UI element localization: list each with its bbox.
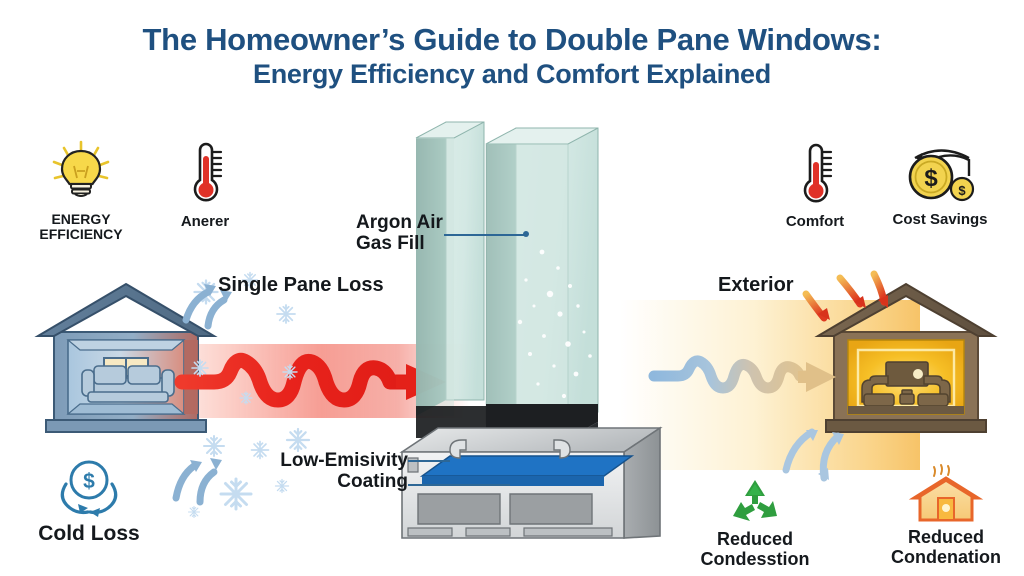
title-line-2: Energy Efficiency and Comfort Explained [0, 59, 1024, 91]
glass-pane-inner [486, 128, 598, 424]
reduced-condesstion-line-1: Reduced [717, 529, 793, 549]
argon-leader-line [444, 234, 526, 236]
coin-dollar-icon: $ $ [897, 146, 983, 208]
argon-line-1: Argon Air [356, 212, 443, 233]
comfort-label: Comfort [770, 214, 860, 231]
low-e-leader-line-2 [408, 484, 510, 486]
icon-anerer: Anerer [160, 142, 250, 231]
house-icon [910, 466, 982, 524]
blue-tan-wave-arrow [652, 352, 842, 408]
energy-efficiency-label-1: ENERGY [51, 211, 110, 227]
page-title: The Homeowner’s Guide to Double Pane Win… [0, 22, 1024, 90]
low-e-line-1: Low-Emisivity [280, 450, 408, 471]
icon-reduced-condenation: Reduced Condenation [876, 466, 1016, 568]
reduced-condesstion-line-2: Condesstion [700, 549, 809, 569]
anerer-label: Anerer [160, 214, 250, 231]
callout-argon: Argon Air Gas Fill [356, 212, 443, 255]
cold-draft-arrows-lower [166, 440, 226, 510]
icon-energy-efficiency: ENERGY EFFICIENCY [26, 138, 136, 243]
low-e-coating-strip [422, 456, 632, 476]
argon-leader-dot [523, 231, 529, 237]
infographic-canvas: The Homeowner’s Guide to Double Pane Win… [0, 0, 1024, 576]
cold-loss-label: Cold Loss [24, 522, 154, 545]
glass-pane-outer [416, 122, 484, 416]
title-line-1: The Homeowner’s Guide to Double Pane Win… [0, 22, 1024, 59]
energy-efficiency-label-2: EFFICIENCY [39, 226, 122, 242]
lightbulb-icon [46, 138, 116, 208]
argon-line-2: Gas Fill [356, 233, 425, 254]
thermometer-icon [787, 144, 843, 210]
coin-dollar-cycle-icon: $ [50, 456, 128, 518]
icon-comfort: Comfort [770, 144, 860, 231]
icon-reduced-condesstion: Reduced Condesstion [690, 478, 820, 570]
pvc-frame [402, 428, 660, 538]
reduced-condenation-line-1: Reduced [908, 527, 984, 547]
icon-cost-savings: $ $ Cost Savings [880, 146, 1000, 229]
low-e-line-2: Coating [337, 471, 408, 492]
callout-low-e: Low-Emisivity Coating [228, 450, 408, 493]
thermometer-icon [177, 142, 233, 210]
svg-text:$: $ [958, 183, 966, 198]
recycle-icon [727, 478, 783, 526]
low-e-leader-line-1 [408, 460, 450, 462]
double-pane-window-cross-section [392, 100, 672, 540]
cost-savings-label: Cost Savings [880, 212, 1000, 229]
callout-single-pane-loss: Single Pane Loss [218, 274, 384, 296]
callout-exterior: Exterior [718, 274, 794, 296]
solar-heat-arrows [796, 268, 906, 340]
svg-text:$: $ [924, 165, 938, 192]
reduced-condenation-line-2: Condenation [891, 547, 1001, 567]
svg-text:$: $ [83, 470, 95, 493]
icon-cold-loss: $ Cold Loss [24, 456, 154, 545]
